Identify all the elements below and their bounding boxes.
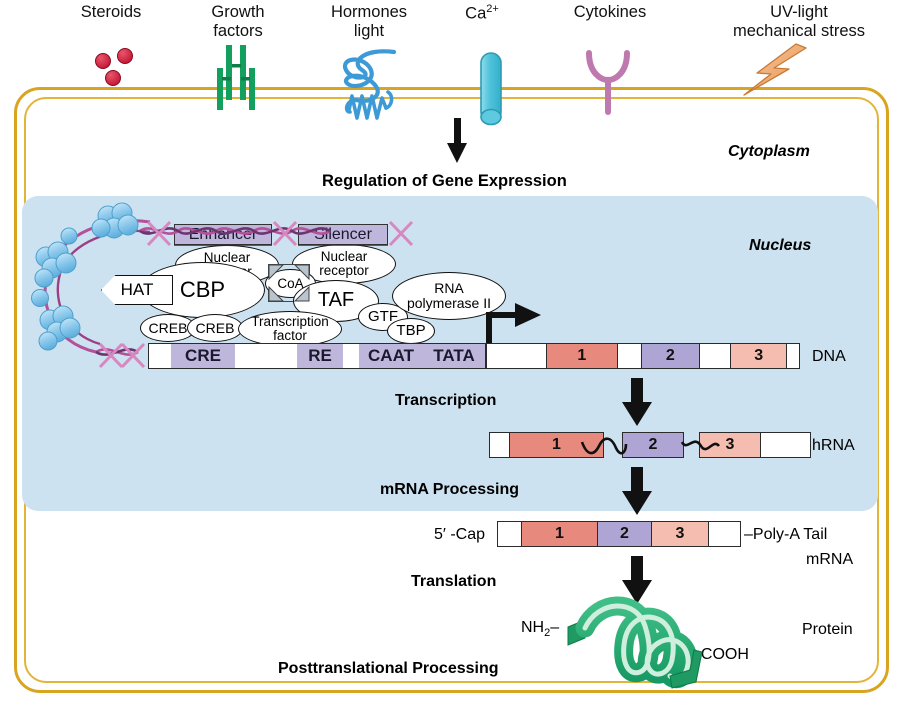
dna-bar: 1 2 3 bbox=[486, 343, 800, 369]
calcium-superscript: 2+ bbox=[486, 3, 499, 15]
enhancer-box[interactable]: Enhancer bbox=[174, 224, 272, 245]
tbp-blob[interactable]: TBP bbox=[387, 318, 435, 344]
promoter-bar: CRE RE CAAT TATA bbox=[148, 343, 486, 369]
c-terminus-label: –COOH bbox=[692, 646, 749, 664]
transcription-factor-blob[interactable]: Transcription factor bbox=[238, 311, 342, 347]
mrna-exon-1: 1 bbox=[522, 522, 598, 546]
calcium-base: Ca bbox=[465, 5, 486, 23]
dna-exon-3: 3 bbox=[731, 344, 787, 368]
creb-blob-right[interactable]: CREB bbox=[187, 314, 243, 342]
mrna-bar: 1 2 3 bbox=[497, 521, 741, 547]
page-title: Regulation of Gene Expression bbox=[322, 172, 567, 191]
hrna-exon-3: 3 bbox=[700, 433, 761, 457]
rna-polymerase-blob[interactable]: RNA polymerase II bbox=[392, 272, 506, 320]
promoter-element-caat[interactable]: CAAT bbox=[359, 344, 423, 368]
dna-exon-1: 1 bbox=[547, 344, 619, 368]
mrna-exon-2: 2 bbox=[598, 522, 652, 546]
mrna-cap-label: 5′ -Cap bbox=[434, 526, 485, 544]
mrna-exon-3: 3 bbox=[652, 522, 709, 546]
hrna-label: hRNA bbox=[812, 437, 855, 455]
stimulus-label-cytokines: Cytokines bbox=[545, 3, 675, 22]
dna-exon-2: 2 bbox=[642, 344, 700, 368]
n-terminus-label: NH2– bbox=[521, 619, 559, 639]
figure-canvas: Cytoplasm Nucleus Steroids Growth factor… bbox=[0, 0, 903, 705]
process-label-mrna-processing: mRNA Processing bbox=[380, 481, 519, 499]
process-label-translation: Translation bbox=[411, 573, 496, 591]
hrna-bar-seg1: 1 bbox=[489, 432, 604, 458]
hrna-exon-1: 1 bbox=[510, 433, 603, 457]
promoter-element-re[interactable]: RE bbox=[297, 344, 343, 368]
promoter-element-tata[interactable]: TATA bbox=[423, 344, 485, 368]
hrna-bar-seg2: 2 bbox=[622, 432, 684, 458]
stimulus-label-uv-stress: UV-light mechanical stress bbox=[700, 3, 898, 42]
red-dots-icon bbox=[96, 49, 133, 86]
cytoplasm-label: Cytoplasm bbox=[728, 143, 810, 161]
process-label-posttranslational: Posttranslational Processing bbox=[278, 660, 499, 678]
mrna-label: mRNA bbox=[806, 551, 853, 569]
hrna-bar-seg3: 3 bbox=[699, 432, 811, 458]
stimulus-label-calcium: Ca2+ bbox=[430, 3, 534, 24]
nh-text: NH bbox=[521, 619, 544, 636]
dna-label: DNA bbox=[812, 348, 846, 366]
nucleus-label: Nucleus bbox=[749, 237, 811, 255]
stimulus-label-steroids: Steroids bbox=[50, 3, 172, 22]
process-label-transcription: Transcription bbox=[395, 392, 496, 410]
protein-label: Protein bbox=[802, 621, 853, 639]
silencer-box[interactable]: Silencer bbox=[298, 224, 388, 245]
stimulus-label-growth-factors: Growth factors bbox=[180, 3, 296, 42]
promoter-element-cre[interactable]: CRE bbox=[171, 344, 235, 368]
stimulus-label-hormones-light: Hormones light bbox=[310, 3, 428, 42]
hrna-exon-2: 2 bbox=[623, 433, 683, 457]
hat-label[interactable]: HAT bbox=[101, 275, 173, 305]
polya-tail-label: –Poly-A Tail bbox=[744, 526, 827, 544]
nh-dash: – bbox=[550, 619, 559, 636]
